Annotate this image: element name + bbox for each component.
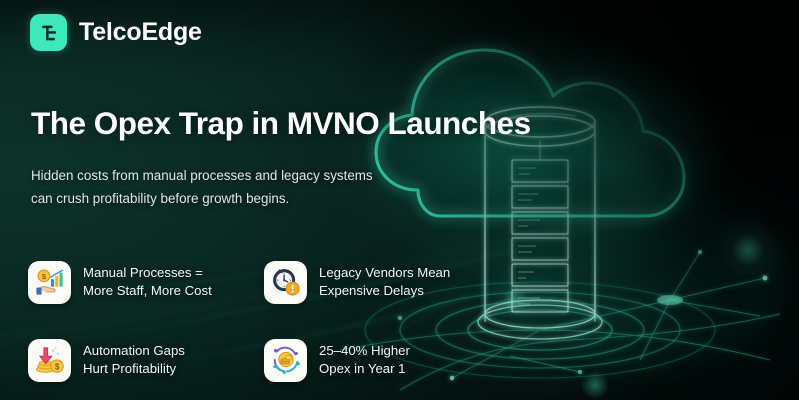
feature-item-manual-processes[interactable]: $ Manual Processes = More Staff, More Co…: [28, 243, 260, 321]
brand-logo[interactable]: TelcoEdge: [30, 14, 202, 51]
feature-list: $ Manual Processes = More Staff, More Co…: [28, 243, 518, 399]
brand-name: TelcoEdge: [79, 18, 202, 47]
clock-warning-icon: [264, 261, 307, 304]
feature-label: 25–40% Higher Opex in Year 1: [319, 342, 410, 377]
feature-label: Manual Processes = More Staff, More Cost: [83, 264, 212, 299]
feature-label: Automation Gaps Hurt Profitability: [83, 342, 185, 377]
coins-down-arrow-icon: $: [28, 339, 71, 382]
page-subtitle: Hidden costs from manual processes and l…: [31, 165, 376, 210]
svg-text:$: $: [54, 362, 59, 371]
network-coins-cycle-icon: [264, 339, 307, 382]
promotional-banner: TelcoEdge The Opex Trap in MVNO Launches…: [0, 0, 799, 400]
feature-item-higher-opex[interactable]: 25–40% Higher Opex in Year 1: [264, 321, 496, 399]
feature-label: Legacy Vendors Mean Expensive Delays: [319, 264, 450, 299]
hand-coin-growth-chart-icon: $: [28, 261, 71, 304]
telcoedge-monogram-icon: [30, 14, 67, 51]
page-title: The Opex Trap in MVNO Launches: [31, 106, 551, 142]
feature-item-automation-gaps[interactable]: $ Automation Gaps Hurt Profitability: [28, 321, 260, 399]
feature-item-legacy-vendors[interactable]: Legacy Vendors Mean Expensive Delays: [264, 243, 496, 321]
